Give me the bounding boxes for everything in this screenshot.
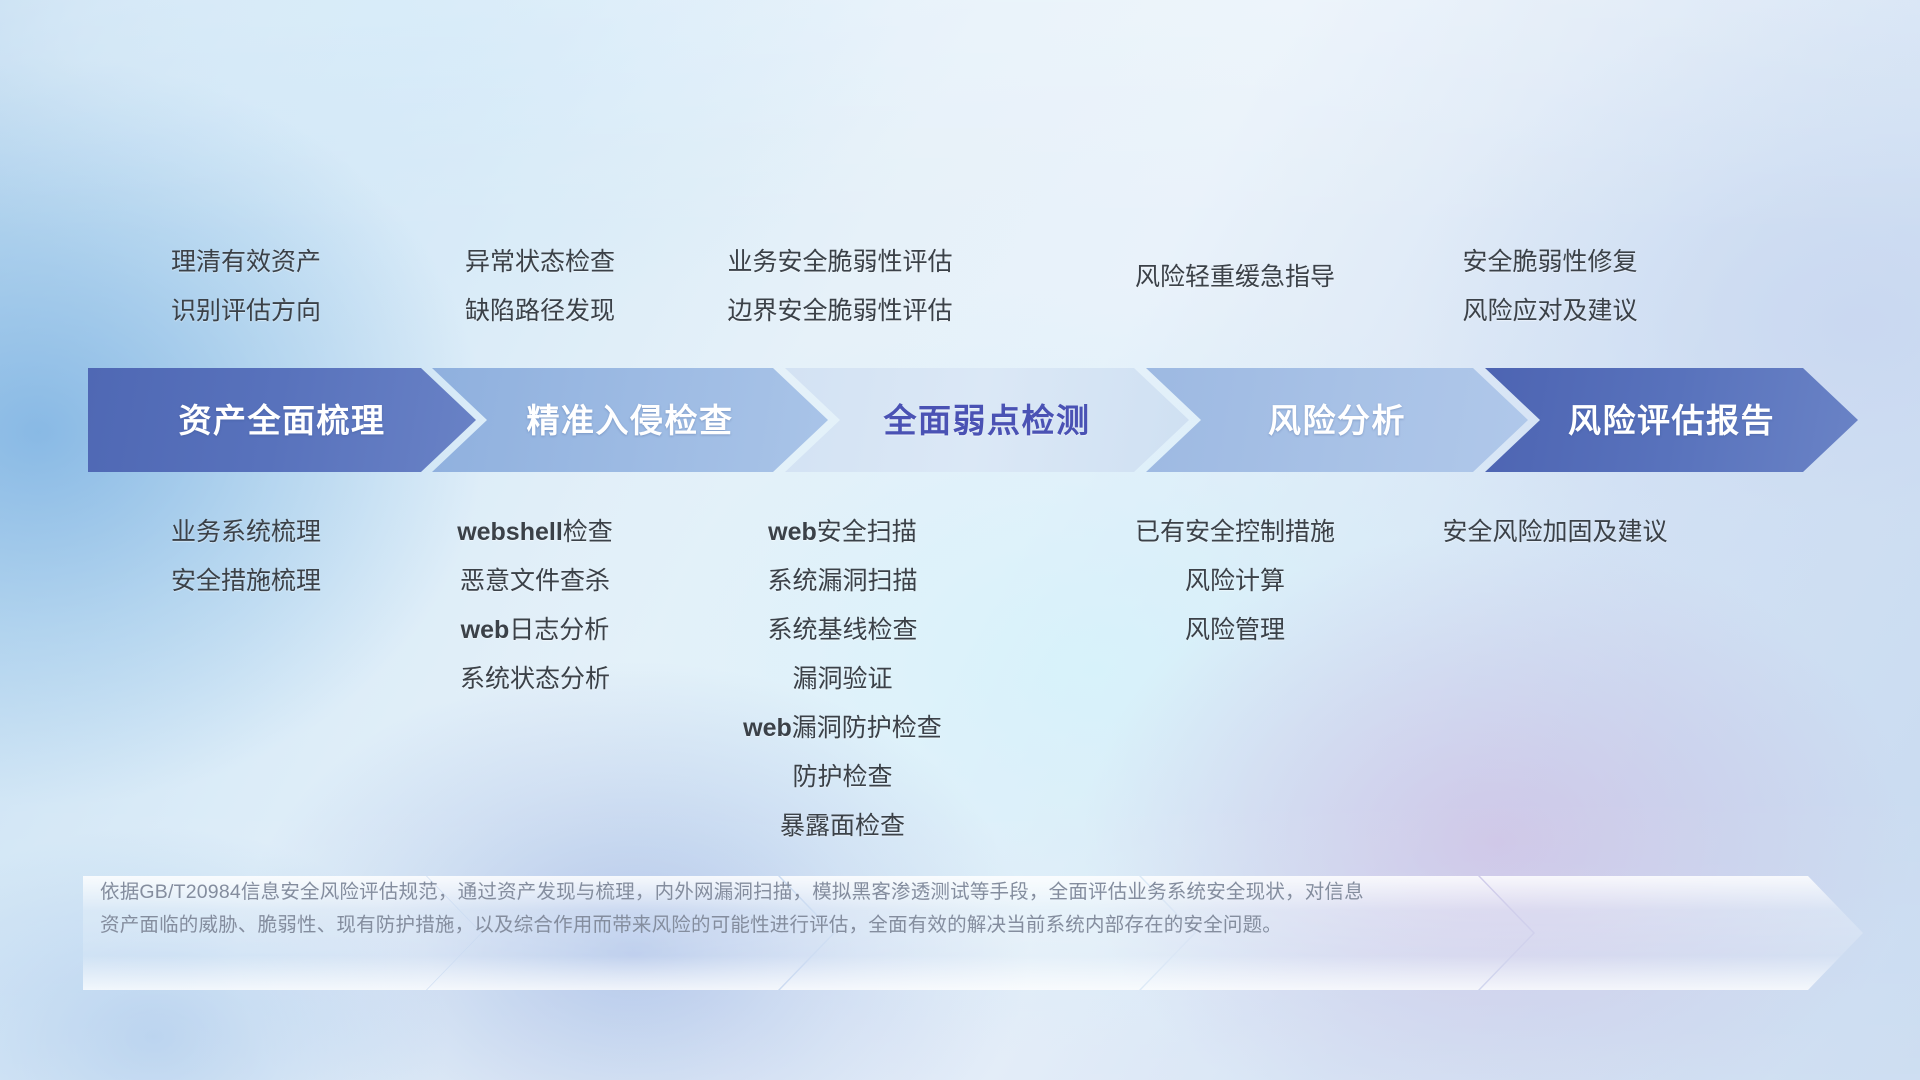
step-outputs-top-5: 安全脆弱性修复 风险应对及建议 [1340,238,1760,336]
footer-description: 依据GB/T20984信息安全风险评估规范，通过资产发现与梳理，内外网漏洞扫描，… [100,876,1730,942]
task-line: 风险管理 [1020,606,1450,655]
step-tasks-3: web安全扫描 系统漏洞扫描 系统基线检查 漏洞验证 web漏洞防护检查 防护检… [615,508,1070,851]
footer-line-1: 依据GB/T20984信息安全风险评估规范，通过资产发现与梳理，内外网漏洞扫描，… [100,876,1730,909]
process-diagram: 理清有效资产 识别评估方向 异常状态检查 缺陷路径发现 业务安全脆弱性评估 边界… [0,0,1920,1080]
process-step-label: 资产全面梳理 [179,404,386,437]
task-line: 系统漏洞扫描 [615,557,1070,606]
output-line: 安全脆弱性修复 [1340,238,1760,287]
output-line: 风险应对及建议 [1340,287,1760,336]
process-step-3[interactable]: 全面弱点检测 [785,368,1189,472]
task-line: web漏洞防护检查 [615,704,1070,753]
task-line: 安全风险加固及建议 [1340,508,1770,557]
process-step-label: 风险评估报告 [1568,404,1775,437]
footer-line-2: 资产面临的威胁、脆弱性、现有防护措施，以及综合作用而带来风险的可能性进行评估，全… [100,909,1730,942]
task-line: 漏洞验证 [615,655,1070,704]
process-step-label: 全面弱点检测 [884,404,1091,437]
process-step-label: 精准入侵检查 [527,404,734,437]
output-line: 边界安全脆弱性评估 [610,287,1070,336]
task-line: 暴露面检查 [615,802,1070,851]
task-line: 系统基线检查 [615,606,1070,655]
process-step-5[interactable]: 风险评估报告 [1485,368,1858,472]
process-step-1[interactable]: 资产全面梳理 [88,368,476,472]
step-outputs-top-3: 业务安全脆弱性评估 边界安全脆弱性评估 [610,238,1070,336]
process-step-label: 风险分析 [1268,404,1406,437]
output-line: 业务安全脆弱性评估 [610,238,1070,287]
task-line: 风险计算 [1020,557,1450,606]
task-line: 防护检查 [615,753,1070,802]
process-chevron-band: 资产全面梳理 精准入侵检查 全面弱点检测 风险分析 风险评估报告 [88,368,1858,472]
process-step-2[interactable]: 精准入侵检查 [432,368,828,472]
step-tasks-5: 安全风险加固及建议 [1340,508,1770,557]
task-line: web安全扫描 [615,508,1070,557]
process-step-4[interactable]: 风险分析 [1146,368,1528,472]
